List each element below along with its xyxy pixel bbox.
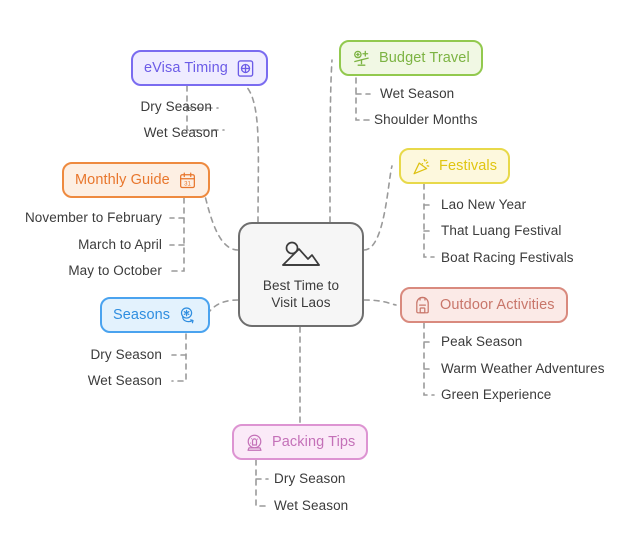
svg-text:31: 31 xyxy=(184,180,191,187)
branch-label-evisa-timing: eVisa Timing xyxy=(144,60,228,76)
leaf-festivals-that-luang[interactable]: That Luang Festival xyxy=(441,223,561,238)
party-popper-icon xyxy=(412,157,431,176)
leaf-monthly-may-october[interactable]: May to October xyxy=(6,263,162,278)
leaf-seasons-dry-season[interactable]: Dry Season xyxy=(10,347,162,362)
leaf-outdoor-peak-season[interactable]: Peak Season xyxy=(441,334,522,349)
landscape-image-icon xyxy=(280,239,322,271)
branch-outdoor-activities[interactable]: Outdoor Activities xyxy=(400,287,568,323)
branch-label-packing-tips: Packing Tips xyxy=(272,434,355,450)
center-label: Best Time to Visit Laos xyxy=(263,277,339,311)
snow-globe-icon xyxy=(245,433,264,452)
mindmap-canvas: Best Time to Visit Laos eVisa Timing Dry… xyxy=(0,0,640,551)
leaf-budget-wet-season[interactable]: Wet Season xyxy=(380,86,454,101)
center-label-line1: Best Time to xyxy=(263,278,339,293)
center-node[interactable]: Best Time to Visit Laos xyxy=(238,222,364,327)
leaf-seasons-wet-season[interactable]: Wet Season xyxy=(10,373,162,388)
money-scale-icon xyxy=(352,49,371,68)
snowflake-cycle-icon xyxy=(178,306,197,325)
leaf-evisa-wet-season[interactable]: Wet Season xyxy=(66,125,218,140)
center-label-line2: Visit Laos xyxy=(271,295,330,310)
branch-seasons[interactable]: Seasons xyxy=(100,297,210,333)
branch-festivals[interactable]: Festivals xyxy=(399,148,510,184)
calendar-31-icon: 31 xyxy=(178,171,197,190)
branch-label-outdoor-activities: Outdoor Activities xyxy=(440,297,555,313)
leaf-monthly-november-february[interactable]: November to February xyxy=(6,210,162,225)
branch-packing-tips[interactable]: Packing Tips xyxy=(232,424,368,460)
passport-globe-icon xyxy=(236,59,255,78)
leaf-festivals-boat-racing[interactable]: Boat Racing Festivals xyxy=(441,250,574,265)
branch-label-seasons: Seasons xyxy=(113,307,170,323)
branch-label-budget-travel: Budget Travel xyxy=(379,50,470,66)
backpack-icon xyxy=(413,296,432,315)
leaf-monthly-march-april[interactable]: March to April xyxy=(6,237,162,252)
branch-evisa-timing[interactable]: eVisa Timing xyxy=(131,50,268,86)
leaf-budget-shoulder-months[interactable]: Shoulder Months xyxy=(374,112,478,127)
branch-monthly-guide[interactable]: 31 Monthly Guide xyxy=(62,162,210,198)
branch-label-festivals: Festivals xyxy=(439,158,497,174)
leaf-evisa-dry-season[interactable]: Dry Season xyxy=(66,99,212,114)
leaf-festivals-lao-new-year[interactable]: Lao New Year xyxy=(441,197,526,212)
leaf-outdoor-warm-weather[interactable]: Warm Weather Adventures xyxy=(441,361,605,376)
leaf-outdoor-green-experience[interactable]: Green Experience xyxy=(441,387,551,402)
branch-budget-travel[interactable]: Budget Travel xyxy=(339,40,483,76)
branch-label-monthly-guide: Monthly Guide xyxy=(75,172,170,188)
leaf-packing-dry-season[interactable]: Dry Season xyxy=(274,471,346,486)
leaf-packing-wet-season[interactable]: Wet Season xyxy=(274,498,348,513)
